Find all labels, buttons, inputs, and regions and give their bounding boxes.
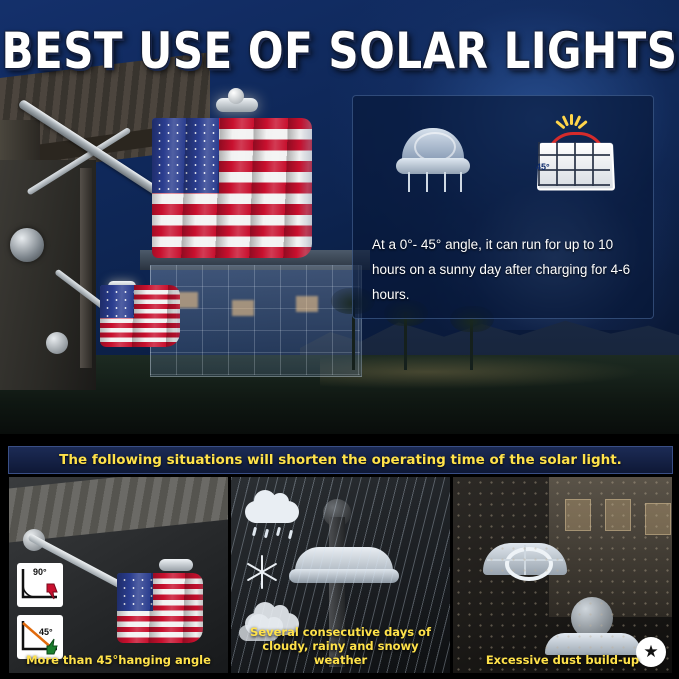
us-flag-large (152, 118, 312, 258)
cell-caption: More than 45°hanging angle (9, 649, 228, 673)
hero-photo-night-scene: 45° At a 0°- 45° angle, it can run for u… (0, 0, 679, 434)
solar-light-head (159, 559, 193, 571)
small-flagpole-mount (46, 332, 68, 354)
lamp-pin (460, 172, 462, 192)
cell-dust-buildup: ★ Excessive dust build-up (452, 476, 673, 674)
info-card-text: At a 0°- 45° angle, it can run for up to… (372, 232, 640, 307)
ground-light-glow (320, 352, 679, 392)
flag-wave-shading (117, 573, 203, 643)
snowflake-shape (245, 555, 279, 589)
angle-badge-45-label: 45° (39, 627, 53, 637)
cloud-shape (245, 501, 299, 523)
product-infographic: 45° At a 0°- 45° angle, it can run for u… (0, 0, 679, 679)
warning-banner: The following situations will shorten th… (8, 446, 673, 474)
thumbs-down-icon (44, 583, 60, 601)
us-flag (117, 573, 203, 643)
flag-wave-shading (100, 285, 180, 347)
flagpole-wall-mount (10, 228, 44, 262)
cell-caption: Excessive dust build-up (453, 649, 672, 673)
angle-badge-90: 90° (17, 563, 63, 607)
lamp-pin (444, 172, 446, 192)
info-card-icons: 45° (368, 112, 636, 197)
cell-hanging-angle: 90° 45° More than 45°hanging angle (8, 476, 229, 674)
warning-banner-text: The following situations will shorten th… (59, 452, 622, 468)
porch-post (80, 168, 92, 368)
panel-angle-label: 45° (536, 162, 550, 172)
warm-window (232, 300, 254, 316)
warm-window (296, 296, 318, 312)
angle-badge-90-label: 90° (33, 567, 47, 577)
solar-lamp-icon (388, 118, 484, 192)
lamp-pin (408, 172, 410, 192)
page-title: BEST USE OF SOLAR LIGHTS (0, 22, 679, 80)
sun-solar-panel-icon: 45° (518, 112, 628, 194)
us-flag-small (100, 285, 180, 347)
flag-wave-shading (152, 118, 312, 258)
cell-bad-weather: Several consecutive days of cloudy, rain… (230, 476, 451, 674)
cell-caption: Several consecutive days of cloudy, rain… (231, 621, 450, 673)
sun-ray (570, 114, 573, 125)
glass-house-mullions (150, 265, 360, 375)
lamp-pin (426, 172, 428, 192)
flagpole-finial (228, 88, 244, 104)
